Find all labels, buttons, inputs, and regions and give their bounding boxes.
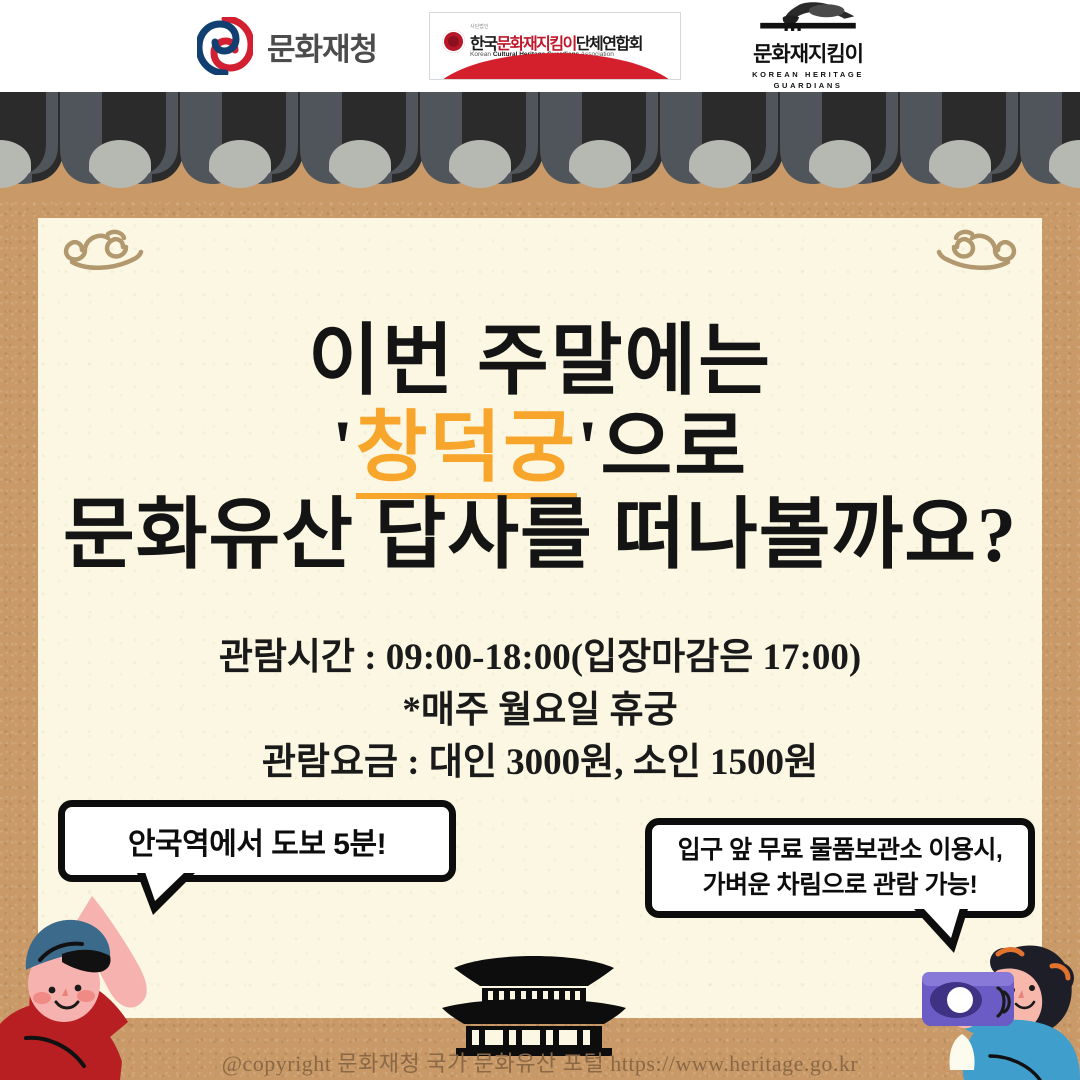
speech-bubble-tail-inner (145, 872, 185, 901)
info-hours: 관람시간 : 09:00-18:00(입장마감은 17:00) (0, 632, 1080, 685)
korea-taegeuk-swirl-icon (197, 17, 253, 75)
speech-bubble-locker: 입구 앞 무료 물품보관소 이용시, 가벼운 차림으로 관람 가능! (645, 818, 1035, 918)
cha-logo: 문화재청 (197, 17, 377, 75)
speech-bubble-locker-line-2: 가벼운 차림으로 관람 가능! (703, 868, 978, 904)
headline-line-1: 이번 주말에는 (0, 320, 1080, 401)
poster-root: 문화재청 사단법인 한국문화재지킴이단체연합회 Korean Cultural … (0, 0, 1080, 1080)
tiger-illustration-icon (733, 22, 883, 39)
cha-logo-label: 문화재청 (267, 24, 377, 69)
logo-bar: 문화재청 사단법인 한국문화재지킴이단체연합회 Korean Cultural … (0, 0, 1080, 92)
headline-line-3: 문화유산 답사를 떠나볼까요? (0, 494, 1080, 575)
red-seal-icon (442, 30, 465, 53)
speech-bubble-station-text: 안국역에서 도보 5분! (128, 819, 386, 863)
korean-roof-tile-pattern (0, 92, 1080, 202)
headline-line-2-tail: 으로 (601, 404, 749, 491)
headline-open-quote: ' (332, 404, 356, 491)
association-tiny-label: 사단법인 (470, 23, 488, 30)
info-block: 관람시간 : 09:00-18:00(입장마감은 17:00) *매주 월요일 … (0, 632, 1080, 790)
speech-bubble-locker-line-1: 입구 앞 무료 물품보관소 이용시, (678, 833, 1003, 869)
guardians-kr-label: 문화재지킴이 (733, 38, 883, 68)
guardians-en-line2: GUARDIANS (733, 81, 883, 91)
headline-accent-changdeokgung: 창덕궁 (356, 404, 577, 499)
speech-bubble-station: 안국역에서 도보 5분! (58, 800, 456, 882)
guardians-logo: 문화재지킴이 KOREAN HERITAGE GUARDIANS (733, 1, 883, 90)
guardians-en-line1: KOREAN HERITAGE (733, 70, 883, 80)
info-closed-day: *매주 월요일 휴궁 (0, 685, 1080, 738)
association-red-wave (429, 53, 681, 80)
headline: 이번 주말에는 '창덕궁'으로 문화유산 답사를 떠나볼까요? (0, 320, 1080, 575)
association-en-plain1: Korean (470, 51, 493, 58)
guardians-en-label: KOREAN HERITAGE GUARDIANS (733, 70, 883, 90)
headline-close-quote: ' (577, 404, 601, 491)
korean-palace-silhouette-icon (428, 946, 640, 1056)
korean-cloud-motif-icon (52, 224, 148, 280)
footer-copyright: @copyright 문화재청 국가 문화유산 포털 https://www.h… (0, 1046, 1080, 1078)
speech-bubble-tail-inner (923, 908, 960, 938)
headline-line-2: '창덕궁'으로 (0, 407, 1080, 488)
association-logo: 사단법인 한국문화재지킴이단체연합회 Korean Cultural Herit… (429, 12, 681, 80)
info-fees: 관람요금 : 대인 3000원, 소인 1500원 (0, 737, 1080, 790)
korean-cloud-motif-icon (932, 224, 1028, 280)
